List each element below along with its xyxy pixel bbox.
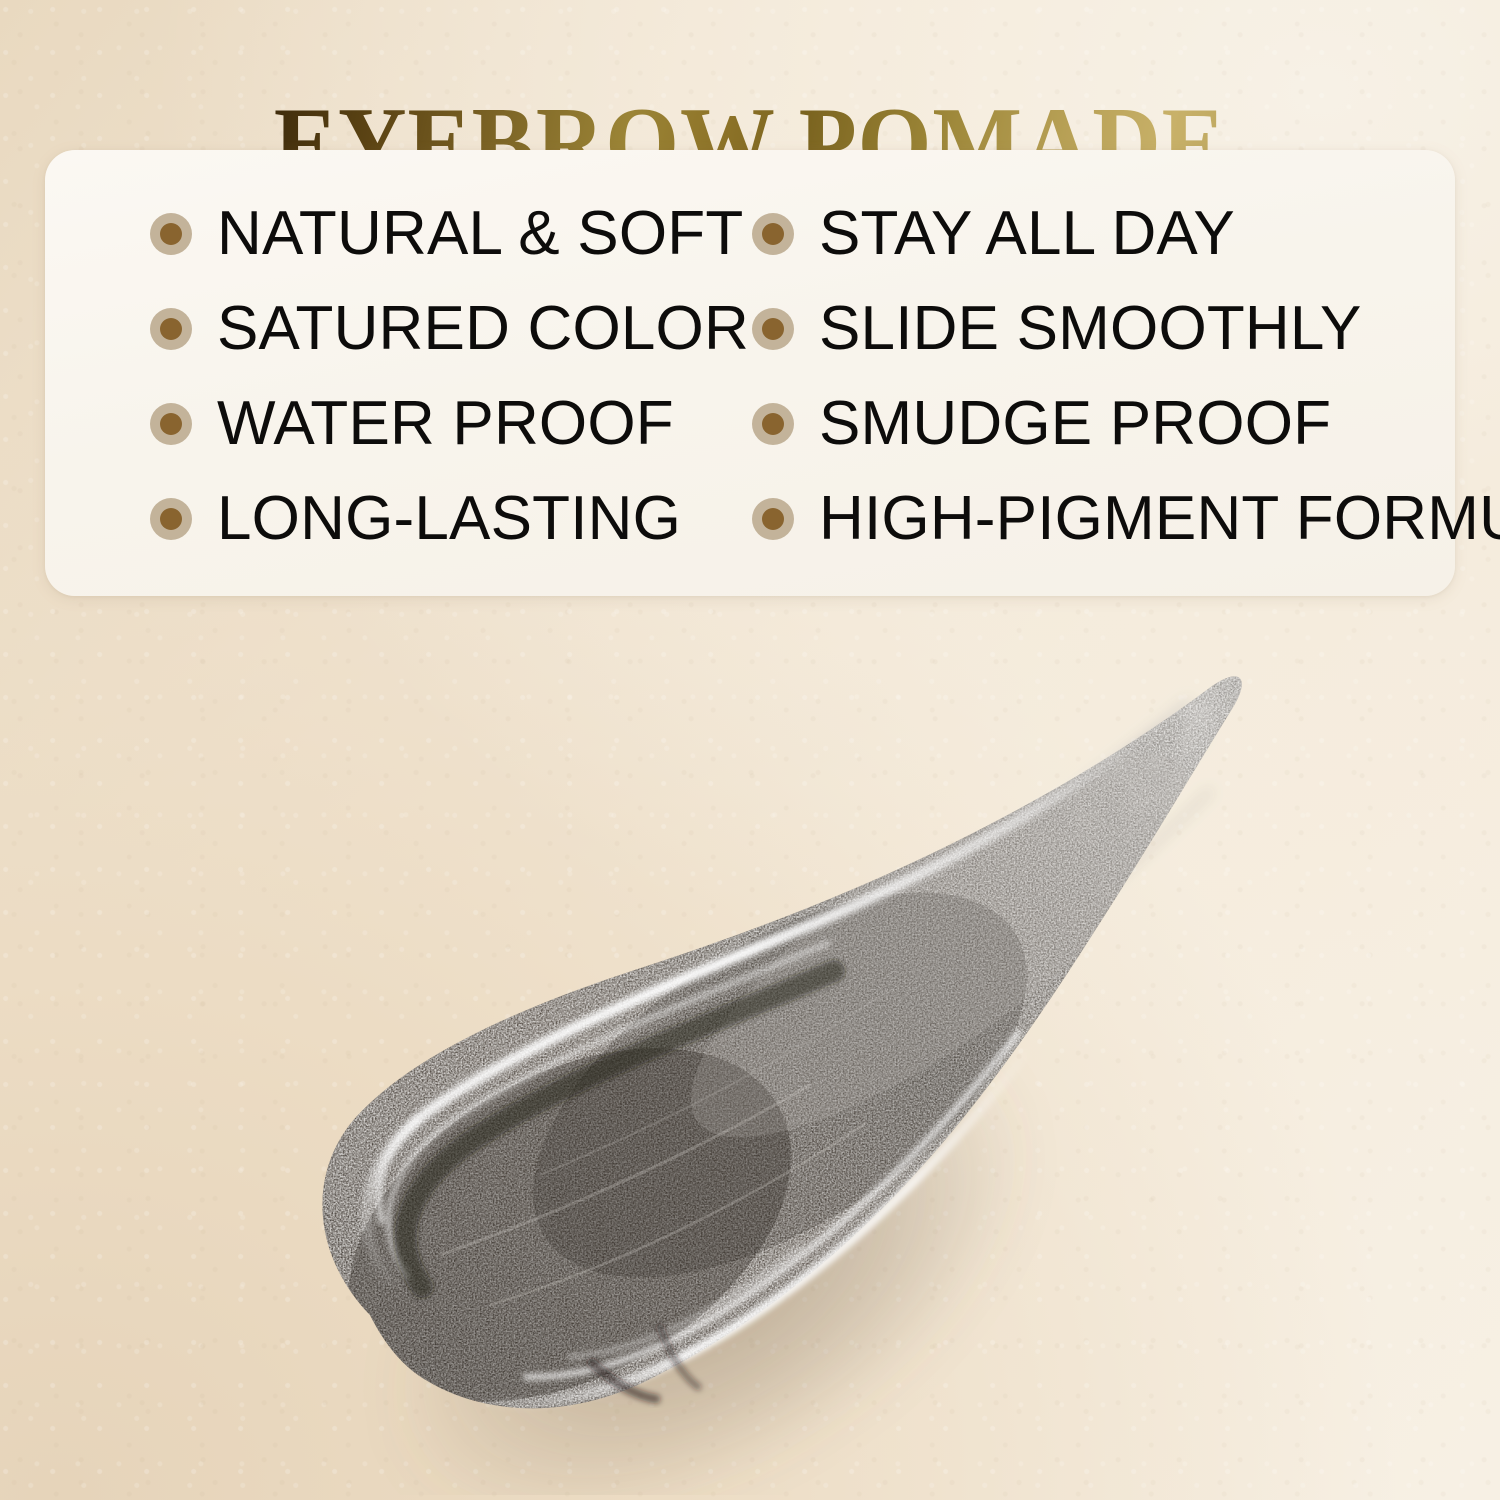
feature-list: NATURAL & SOFT STAY ALL DAY SATURED COLO… [45, 150, 1455, 596]
feature-item-smudge-proof: SMUDGE PROOF [752, 376, 1455, 471]
feature-label: WATER PROOF [217, 393, 674, 455]
pomade-smear-illustration [240, 615, 1310, 1495]
bullet-dot-icon [150, 308, 192, 350]
feature-label: SLIDE SMOOTHLY [819, 298, 1362, 360]
product-feature-graphic: EYEBROW POMADE NATURAL & SOFT STAY ALL D… [0, 0, 1500, 1500]
feature-label: STAY ALL DAY [819, 203, 1235, 265]
bullet-dot-icon [752, 213, 794, 255]
feature-item-water-proof: WATER PROOF [45, 376, 752, 471]
product-swatch-image [240, 615, 1310, 1495]
bullet-dot-icon [752, 403, 794, 445]
feature-item-satured-color: SATURED COLOR [45, 281, 752, 376]
feature-item-stay-all-day: STAY ALL DAY [752, 186, 1455, 281]
feature-item-slide-smoothly: SLIDE SMOOTHLY [752, 281, 1455, 376]
feature-card: NATURAL & SOFT STAY ALL DAY SATURED COLO… [45, 150, 1455, 596]
feature-item-high-pigment-formula: HIGH-PIGMENT FORMULA [752, 471, 1455, 566]
feature-label: SATURED COLOR [217, 298, 749, 360]
feature-label: SMUDGE PROOF [819, 393, 1331, 455]
bullet-dot-icon [752, 308, 794, 350]
feature-label: NATURAL & SOFT [217, 203, 743, 265]
bullet-dot-icon [150, 498, 192, 540]
feature-label: HIGH-PIGMENT FORMULA [819, 488, 1500, 550]
bullet-dot-icon [150, 213, 192, 255]
product-swatch-render [240, 615, 1310, 1495]
bullet-dot-icon [752, 498, 794, 540]
feature-label: LONG-LASTING [217, 488, 681, 550]
feature-item-long-lasting: LONG-LASTING [45, 471, 752, 566]
feature-item-natural-soft: NATURAL & SOFT [45, 186, 752, 281]
bullet-dot-icon [150, 403, 192, 445]
